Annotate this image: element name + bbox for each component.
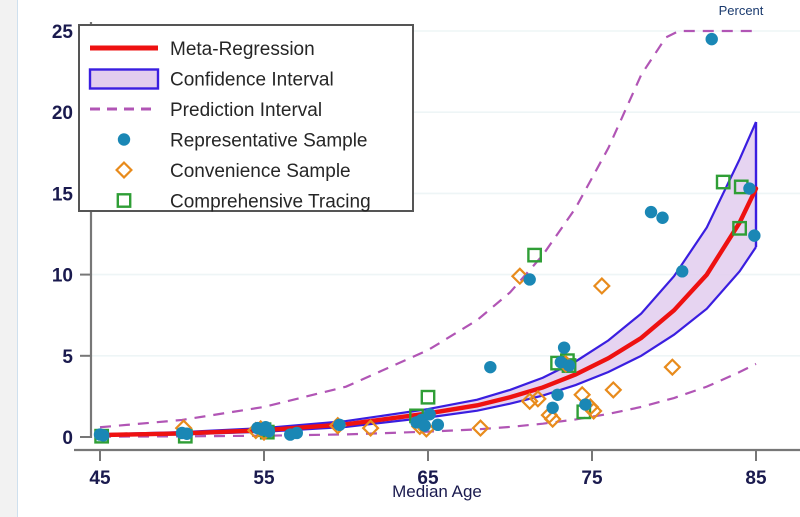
x-tick-label-85: 85 [745, 468, 767, 489]
data-point-circle [181, 428, 193, 440]
data-point-circle [551, 389, 563, 401]
data-point-circle [676, 265, 688, 277]
y-axis-tick-labels: 0510152025 [52, 22, 74, 449]
legend-label-representative-sample: Representative Sample [170, 131, 368, 152]
y-tick-label-5: 5 [62, 347, 73, 368]
legend-marker-representative-sample [118, 133, 130, 145]
data-point-circle [743, 182, 755, 194]
data-point-circle [97, 429, 109, 441]
chart-legend: Meta-RegressionConfidence IntervalPredic… [79, 25, 413, 213]
x-tick-label-45: 45 [89, 468, 111, 489]
data-point-circle [546, 402, 558, 414]
x-axis-ticks [100, 450, 756, 461]
data-point-circle [432, 419, 444, 431]
legend-marker-confidence-interval [90, 70, 158, 89]
page-root: 0510152025 4555657585 Median Age Percent… [0, 0, 800, 517]
data-point-circle [523, 273, 535, 285]
legend-label-prediction-interval: Prediction Interval [170, 100, 322, 121]
data-point-circle [748, 229, 760, 241]
data-point-circle [263, 425, 275, 437]
data-point-circle [563, 359, 575, 371]
legend-label-meta-regression: Meta-Regression [170, 39, 315, 60]
meta-regression-scatter-chart: 0510152025 4555657585 Median Age Percent… [18, 0, 800, 517]
y-tick-label-0: 0 [62, 428, 73, 449]
data-point-circle [645, 206, 657, 218]
data-point-circle [423, 408, 435, 420]
legend-label-comprehensive-tracing: Comprehensive Tracing [170, 192, 371, 213]
data-point-circle [558, 341, 570, 353]
y-tick-label-20: 20 [52, 103, 73, 124]
data-point-circle [579, 398, 591, 410]
document-page: 0510152025 4555657585 Median Age Percent… [17, 0, 800, 517]
data-point-circle [656, 212, 668, 224]
data-point-circle [484, 361, 496, 373]
data-point-circle [706, 33, 718, 45]
legend-label-convenience-sample: Convenience Sample [170, 161, 351, 182]
y-tick-label-25: 25 [52, 22, 74, 43]
x-tick-label-55: 55 [253, 468, 275, 489]
data-point-circle [419, 419, 431, 431]
legend-label-confidence-interval: Confidence Interval [170, 70, 334, 91]
x-axis-title: Median Age [392, 482, 482, 501]
data-point-circle [333, 419, 345, 431]
y-tick-label-10: 10 [52, 266, 73, 287]
chart-figure: 0510152025 4555657585 Median Age Percent… [18, 0, 800, 517]
x-tick-label-75: 75 [581, 468, 603, 489]
y-tick-label-15: 15 [52, 184, 74, 205]
data-point-circle [291, 427, 303, 439]
y-axis-title: Percent [719, 3, 764, 18]
